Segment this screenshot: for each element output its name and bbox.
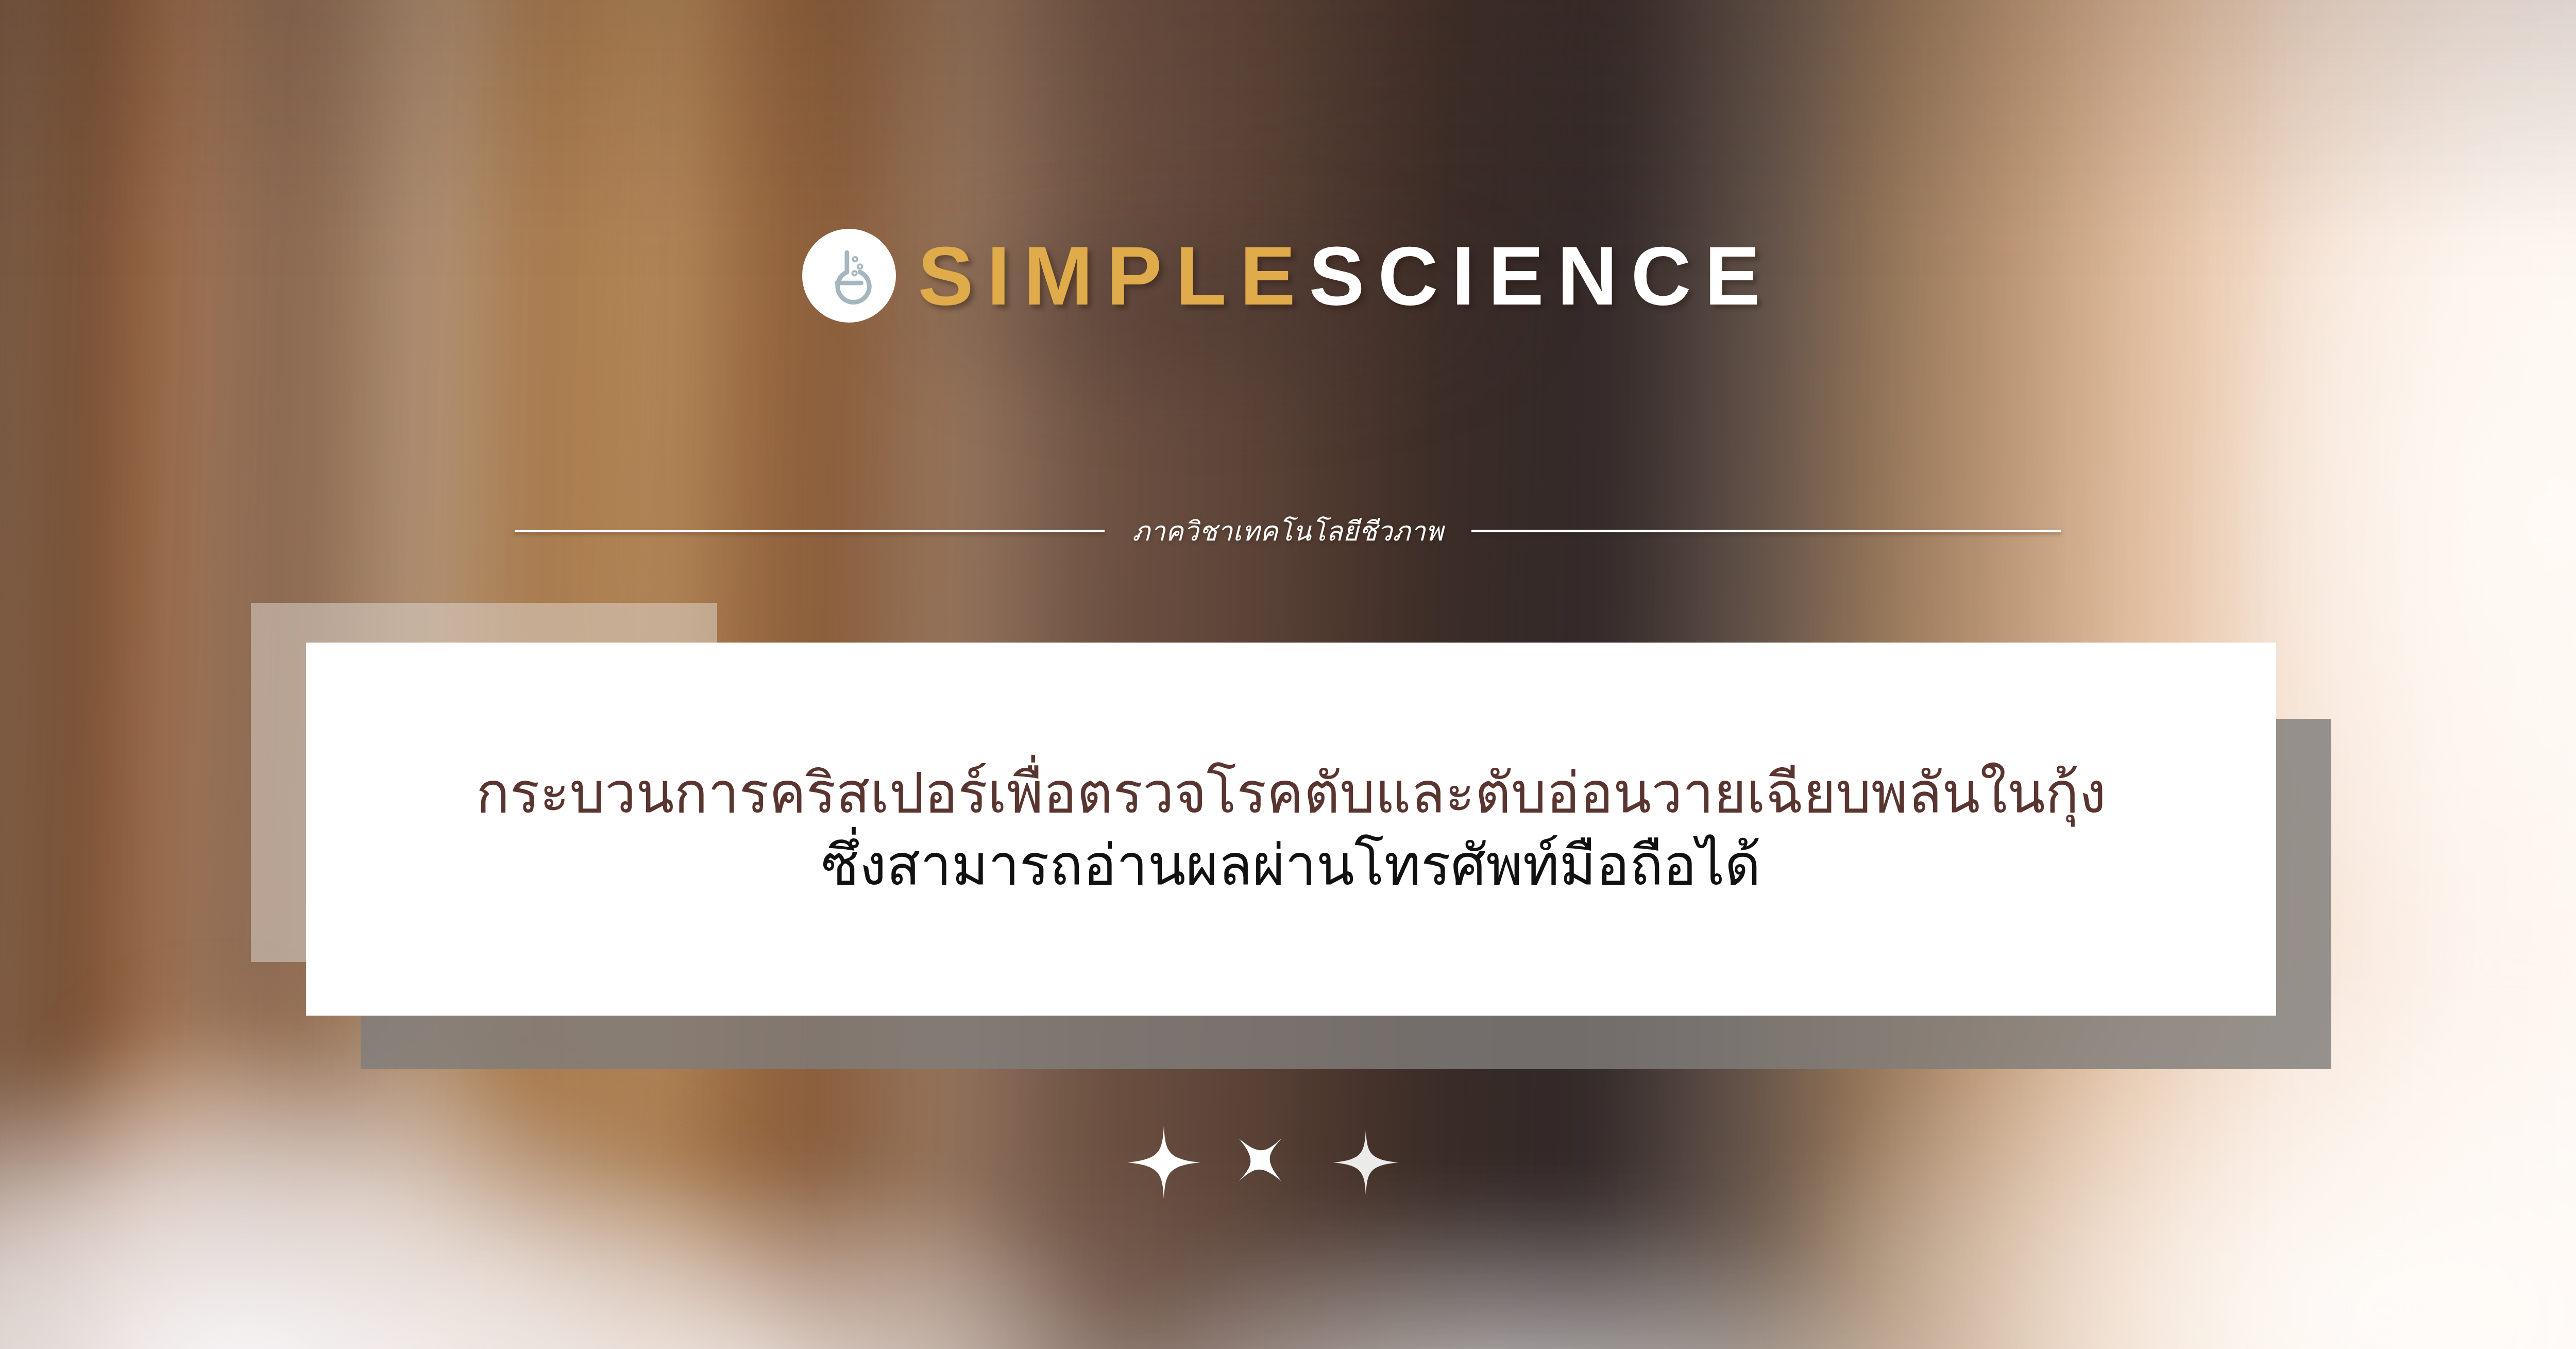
department-name: ภาควิชาเทคโนโลยีชีวภาพ <box>1132 510 1444 552</box>
title-line-2: ซึ่งสามารถอ่านผลผ่านโทรศัพท์มือถือได้ <box>342 829 2240 901</box>
brand-header: SIMPLESCIENCE <box>0 206 2576 345</box>
brand-wordmark: SIMPLESCIENCE <box>918 234 1773 317</box>
divider-left <box>515 530 1105 532</box>
sparkle-group <box>1126 1113 1455 1232</box>
presentation-slide: SIMPLESCIENCE ภาควิชาเทคโนโลยีชีวภาพ กระ… <box>0 0 2576 1349</box>
title-line-1: กระบวนการคริสเปอร์เพื่อตรวจโรคตับและตับอ… <box>342 757 2240 829</box>
title-card: กระบวนการคริสเปอร์เพื่อตรวจโรคตับและตับอ… <box>306 643 2276 1016</box>
sparkle-icon-2 <box>1216 1116 1305 1205</box>
divider-right <box>1471 530 2061 532</box>
department-row: ภาควิชาเทคโนโลยีชีวภาพ <box>0 508 2576 554</box>
brand-word-science: SCIENCE <box>1309 229 1773 322</box>
brand-word-simple: SIMPLE <box>918 229 1309 322</box>
sparkle-icon-1 <box>1126 1124 1202 1201</box>
brand-logo <box>802 229 896 323</box>
flask-icon <box>819 245 879 306</box>
sparkle-icon-3 <box>1332 1128 1400 1196</box>
